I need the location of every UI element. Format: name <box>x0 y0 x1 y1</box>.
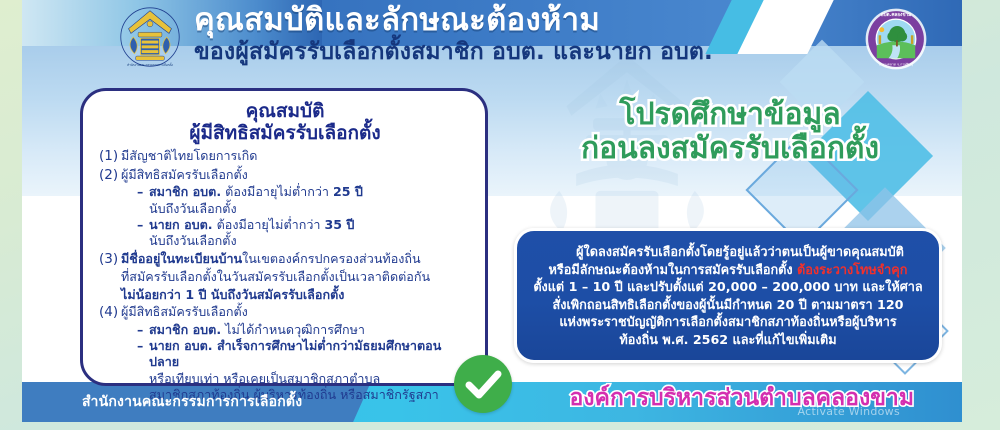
subitem-rest: ไม่ได้กำหนดวุฒิการศึกษา <box>221 322 365 337</box>
subitem-rest: ต้องมีอายุไม่ต่ำกว่า <box>213 217 325 232</box>
list-item-number: (1) <box>99 148 121 166</box>
check-icon <box>454 355 512 413</box>
svg-text:อบต.คลองขาม: อบต.คลองขาม <box>881 12 911 18</box>
list-subitem: – สมาชิก อบต. ต้องมีอายุไม่ต่ำกว่า 25 ปี <box>137 184 471 200</box>
hero-line1: โปรดศึกษาข้อมูล <box>520 98 940 132</box>
subitem-age: 25 ปี <box>333 184 363 199</box>
warning-line3: ตั้งแต่ 1 – 10 ปี และปรับตั้งแต่ 20,000 … <box>532 278 924 296</box>
subitem-text-bold: นายก อบต. สำเร็จการศึกษาไม่ต่ำกว่ามัธยมศ… <box>149 338 471 371</box>
dash-bullet-icon: – <box>137 217 149 233</box>
svg-text:สำนักงานคณะกรรมการการเลือกตั้ง: สำนักงานคณะกรรมการการเลือกตั้ง <box>127 61 173 67</box>
dash-bullet-icon: – <box>137 184 149 200</box>
hero-headline: โปรดศึกษาข้อมูล ก่อนลงสมัครรับเลือกตั้ง <box>520 98 940 166</box>
list-item: (1) มีสัญชาติไทยโดยการเกิด <box>99 148 471 166</box>
activate-windows-watermark: Activate Windows <box>798 405 900 418</box>
warning-line5: แห่งพระราชบัญญัติการเลือกตั้งสมาชิกสภาท้… <box>532 313 924 331</box>
list-item-text: มีชื่ออยู่ในทะเบียนบ้านในเขตองค์กรปกครอง… <box>121 251 471 269</box>
warning-box: ผู้ใดลงสมัครรับเลือกตั้งโดยรู้อยู่แล้วว่… <box>514 228 942 363</box>
warning-line2-white: หรือมีลักษณะต้องห้ามในการสมัครรับเลือกตั… <box>549 262 798 277</box>
list-subitem-text: นายก อบต. ต้องมีอายุไม่ต่ำกว่า 35 ปี <box>149 217 354 233</box>
list-item-text: ผู้มีสิทธิสมัครรับเลือกตั้ง <box>121 167 471 185</box>
title-block: คุณสมบัติและลักษณะต้องห้าม ของผู้สมัครรั… <box>194 4 713 66</box>
list-item-number: (4) <box>99 304 121 322</box>
sao-khlong-kham-seal-icon: อบต.คลองขาม อ.ยางตลาด จ.กาฬสินธุ์ <box>865 8 927 70</box>
poster-root: สำนักงานคณะกรรมการการเลือกตั้ง คุณสมบัติ… <box>0 0 1000 430</box>
subitem-role: สมาชิก อบต. <box>149 322 221 337</box>
page-title-line1: คุณสมบัติและลักษณะต้องห้าม <box>194 4 713 37</box>
item3-line3-text: ไม่น้อยกว่า 1 ปี นับถึงวันสมัครรับเลือกต… <box>121 287 471 303</box>
warning-line1: ผู้ใดลงสมัครรับเลือกตั้งโดยรู้อยู่แล้วว่… <box>532 243 924 261</box>
list-subitem: – นายก อบต. ต้องมีอายุไม่ต่ำกว่า 35 ปี <box>137 217 471 233</box>
list-subitem: – นายก อบต. สำเร็จการศึกษาไม่ต่ำกว่ามัธย… <box>137 338 471 371</box>
item3-rest: ในเขตองค์กรปกครองส่วนท้องถิ่น <box>242 251 421 266</box>
warning-line2-red: ต้องระวางโทษจำคุก <box>797 262 907 277</box>
warning-line6: ท้องถิ่น พ.ศ. 2562 และที่แก้ไขเพิ่มเติม <box>532 331 924 349</box>
item3-line2: ที่สมัครรับเลือกตั้งในวันสมัครรับเลือกตั… <box>121 269 471 285</box>
list-item: (2) ผู้มีสิทธิสมัครรับเลือกตั้ง <box>99 167 471 185</box>
card-heading-line1: คุณสมบัติ <box>99 101 471 123</box>
dash-bullet-icon: – <box>137 322 149 338</box>
list-item-number: (3) <box>99 251 121 269</box>
item3-line3: ไม่น้อยกว่า 1 ปี นับถึงวันสมัครรับเลือกต… <box>121 287 471 303</box>
list-subitem-continued: หรือเทียบเท่า หรือเคยเป็นสมาชิกสภาตำบล <box>149 371 471 387</box>
item3-bold: มีชื่ออยู่ในทะเบียนบ้าน <box>121 251 242 266</box>
list-subitem: – สมาชิก อบต. ไม่ได้กำหนดวุฒิการศึกษา <box>137 322 471 338</box>
subitem-rest: ต้องมีอายุไม่ต่ำกว่า <box>221 184 333 199</box>
page-title-line2: ของผู้สมัครรับเลือกตั้งสมาชิก อบต. และนา… <box>194 40 713 66</box>
subitem-role: สมาชิก อบต. <box>149 184 221 199</box>
dash-bullet-icon: – <box>137 338 149 371</box>
list-item-number: (2) <box>99 167 121 185</box>
warning-line2: หรือมีลักษณะต้องห้ามในการสมัครรับเลือกตั… <box>532 261 924 279</box>
artboard: สำนักงานคณะกรรมการการเลือกตั้ง คุณสมบัติ… <box>22 0 962 422</box>
qualifications-card: คุณสมบัติ ผู้มีสิทธิสมัครรับเลือกตั้ง (1… <box>80 88 488 386</box>
subitem-age: 35 ปี <box>324 217 354 232</box>
list-item-text: มีสัญชาติไทยโดยการเกิด <box>121 148 471 166</box>
warning-line4: สั่งเพิกถอนสิทธิเลือกตั้งของผู้นั้นมีกำห… <box>532 296 924 314</box>
list-item-text: ผู้มีสิทธิสมัครรับเลือกตั้ง <box>121 304 471 322</box>
list-subitem-continued: นับถึงวันเลือกตั้ง <box>149 233 471 249</box>
check-badge <box>454 355 512 413</box>
list-subitem-text: สมาชิก อบต. ไม่ได้กำหนดวุฒิการศึกษา <box>149 322 365 338</box>
list-item: (3) มีชื่ออยู่ในทะเบียนบ้านในเขตองค์กรปก… <box>99 251 471 269</box>
item3-line2-text: ที่สมัครรับเลือกตั้งในวันสมัครรับเลือกตั… <box>121 269 471 285</box>
list-item: (4) ผู้มีสิทธิสมัครรับเลือกตั้ง <box>99 304 471 322</box>
card-heading-line2: ผู้มีสิทธิสมัครรับเลือกตั้ง <box>99 123 471 145</box>
subitem-role: นายก อบต. <box>149 217 213 232</box>
hero-line2: ก่อนลงสมัครรับเลือกตั้ง <box>520 132 940 166</box>
list-subitem-text: สมาชิก อบต. ต้องมีอายุไม่ต่ำกว่า 25 ปี <box>149 184 363 200</box>
ect-emblem-icon: สำนักงานคณะกรรมการการเลือกตั้ง <box>120 6 180 68</box>
list-subitem-continued: นับถึงวันเลือกตั้ง <box>149 201 471 217</box>
footer-organization-label: สำนักงานคณะกรรมการการเลือกตั้ง <box>82 391 302 413</box>
